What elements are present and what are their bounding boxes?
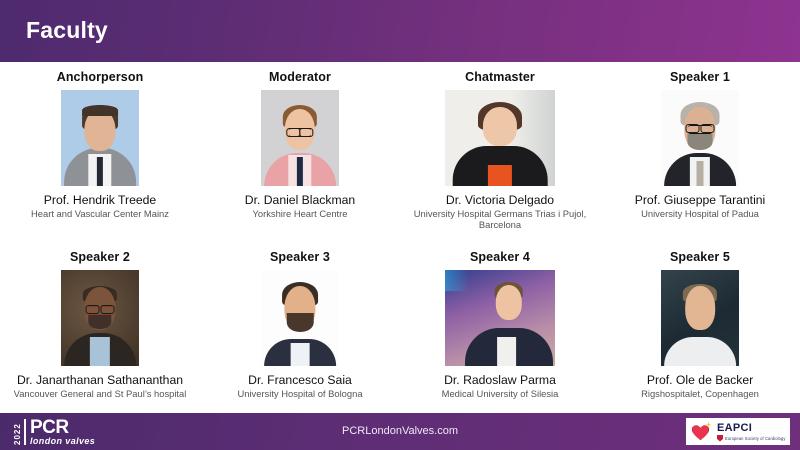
faculty-card-speaker-1[interactable]: Speaker 1 Prof. Giuseppe Tarantini Unive… xyxy=(600,70,800,231)
faculty-role-label: Anchorperson xyxy=(57,70,144,84)
eapci-logo[interactable]: EAPCI European Society of Cardiology xyxy=(686,418,790,445)
portrait-giuseppe-tarantini xyxy=(661,90,739,186)
page-header: Faculty xyxy=(0,0,800,62)
faculty-name: Dr. Radoslaw Parma xyxy=(444,373,556,387)
faculty-role-label: Speaker 1 xyxy=(670,70,730,84)
faculty-affiliation: Vancouver General and St Paul’s hospital xyxy=(14,388,187,399)
page-footer: 2022 PCR london valves PCRLondonValves.c… xyxy=(0,413,800,450)
faculty-card-speaker-3[interactable]: Speaker 3 Dr. Francesco Saia University … xyxy=(200,250,400,399)
portrait-radoslaw-parma xyxy=(445,270,555,366)
faculty-row-1: Anchorperson Prof. Hendrik Treede Heart … xyxy=(0,70,800,231)
faculty-name: Dr. Daniel Blackman xyxy=(245,193,355,207)
faculty-name: Prof. Giuseppe Tarantini xyxy=(635,193,766,207)
eapci-subtitle-row: European Society of Cardiology xyxy=(717,435,786,442)
faculty-card-anchorperson[interactable]: Anchorperson Prof. Hendrik Treede Heart … xyxy=(0,70,200,231)
faculty-row-2: Speaker 2 Dr. Janarthanan Sathananthan V… xyxy=(0,250,800,399)
faculty-role-label: Speaker 2 xyxy=(70,250,130,264)
faculty-role-label: Chatmaster xyxy=(465,70,535,84)
faculty-role-label: Speaker 4 xyxy=(470,250,530,264)
faculty-card-moderator[interactable]: Moderator Dr. Daniel Blackman Yorkshire … xyxy=(200,70,400,231)
faculty-role-label: Speaker 5 xyxy=(670,250,730,264)
faculty-affiliation: University Hospital of Padua xyxy=(641,208,759,219)
faculty-affiliation: Yorkshire Heart Centre xyxy=(252,208,347,219)
footer-website-url[interactable]: PCRLondonValves.com xyxy=(0,425,800,437)
eapci-wordmark: EAPCI European Society of Cardiology xyxy=(717,422,786,442)
heart-icon xyxy=(691,422,712,441)
faculty-affiliation: University Hospital of Bologna xyxy=(237,388,362,399)
faculty-name: Prof. Ole de Backer xyxy=(647,373,753,387)
faculty-name: Prof. Hendrik Treede xyxy=(44,193,156,207)
faculty-affiliation: Rigshospitalet, Copenhagen xyxy=(641,388,759,399)
faculty-card-speaker-5[interactable]: Speaker 5 Prof. Ole de Backer Rigshospit… xyxy=(600,250,800,399)
portrait-ole-de-backer xyxy=(661,270,739,366)
faculty-affiliation: Medical University of Silesia xyxy=(442,388,559,399)
page-title: Faculty xyxy=(26,17,108,44)
eapci-subtitle-label: European Society of Cardiology xyxy=(725,436,786,441)
portrait-janarthanan-sathananthan xyxy=(61,270,139,366)
portrait-francesco-saia xyxy=(261,270,339,366)
faculty-name: Dr. Francesco Saia xyxy=(248,373,352,387)
faculty-role-label: Moderator xyxy=(269,70,331,84)
faculty-role-label: Speaker 3 xyxy=(270,250,330,264)
logo-secondary-label: london valves xyxy=(30,436,95,446)
faculty-name: Dr. Victoria Delgado xyxy=(446,193,554,207)
faculty-name: Dr. Janarthanan Sathananthan xyxy=(17,373,183,387)
faculty-card-speaker-2[interactable]: Speaker 2 Dr. Janarthanan Sathananthan V… xyxy=(0,250,200,399)
eapci-name-label: EAPCI xyxy=(717,422,786,434)
faculty-affiliation: University Hospital Germans Trias i Pujo… xyxy=(406,208,594,231)
faculty-affiliation: Heart and Vascular Center Mainz xyxy=(31,208,169,219)
faculty-card-speaker-4[interactable]: Speaker 4 Dr. Radoslaw Parma Medical Uni… xyxy=(400,250,600,399)
faculty-card-chatmaster[interactable]: Chatmaster Dr. Victoria Delgado Universi… xyxy=(400,70,600,231)
portrait-daniel-blackman xyxy=(261,90,339,186)
portrait-hendrik-treede xyxy=(61,90,139,186)
portrait-victoria-delgado xyxy=(445,90,555,186)
shield-icon xyxy=(717,435,723,442)
